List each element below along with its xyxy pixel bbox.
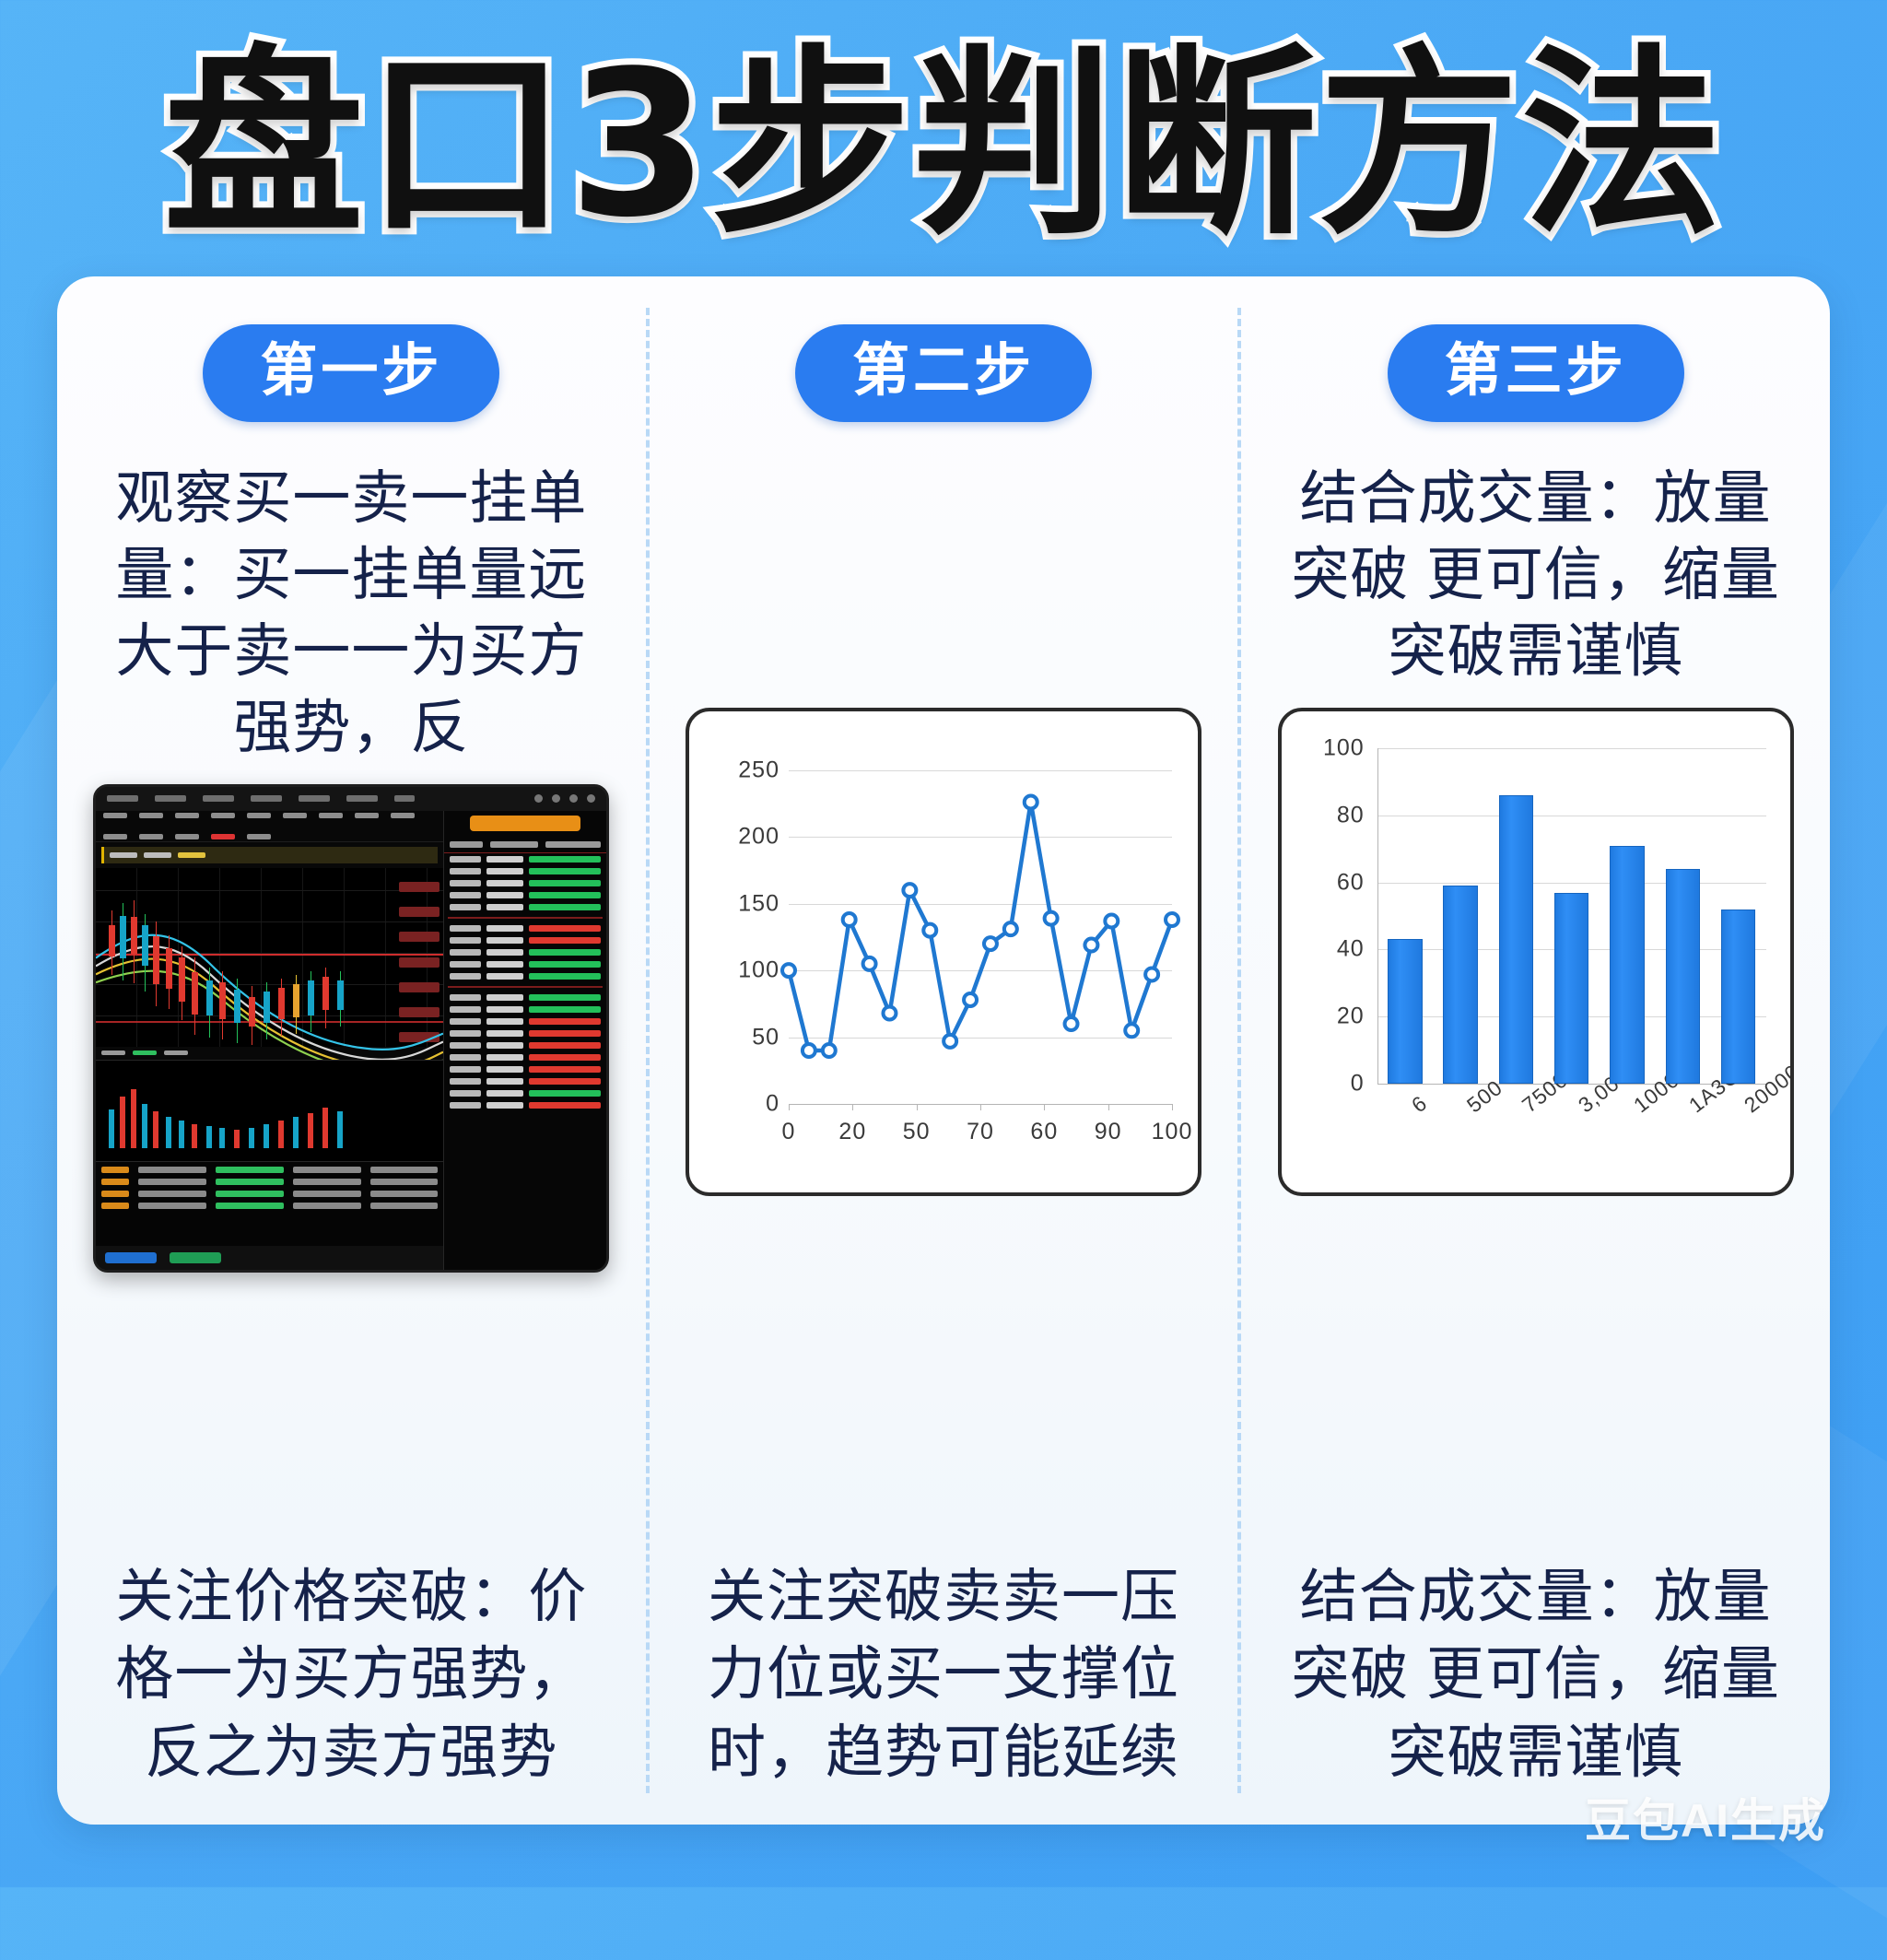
- sell-button[interactable]: [170, 1252, 221, 1263]
- list-item: [444, 934, 606, 946]
- data-point: [984, 937, 997, 950]
- data-point: [923, 924, 936, 937]
- data-point: [943, 1035, 956, 1048]
- order-book-pane: [444, 811, 606, 1270]
- steps-card: 第一步 观察买一卖一挂单量：买一挂单量远大于卖一一为买方强势，反: [57, 276, 1830, 1825]
- list-item: [444, 877, 606, 889]
- data-point: [782, 964, 795, 977]
- y-axis-tick-label: 100: [1293, 735, 1365, 762]
- data-point: [1025, 796, 1037, 809]
- table-row: [101, 1191, 438, 1197]
- table-row: [101, 1179, 438, 1185]
- line-series: [689, 711, 1198, 1192]
- watermark: 豆包AI生成: [1585, 1784, 1826, 1850]
- bar-chart: 020406080100650075003,006100061A3CO20000: [1278, 708, 1794, 1196]
- figure-container-3: 020406080100650075003,006100061A3CO20000: [1263, 708, 1808, 1196]
- list-item: [444, 958, 606, 970]
- symbol-pill[interactable]: [470, 816, 580, 831]
- data-point: [1045, 912, 1058, 925]
- y-axis-tick-label: 60: [1293, 869, 1365, 896]
- menu-item-icon: [346, 795, 378, 802]
- menu-item-icon: [203, 795, 234, 802]
- list-item: [444, 1087, 606, 1099]
- step-column-3: 第三步 结合成交量：放量突破 更可信，缩量突破需谨慎 0204060801006…: [1241, 276, 1830, 1825]
- list-item: [444, 1039, 606, 1051]
- menu-item-icon: [394, 795, 415, 802]
- data-point: [1105, 914, 1118, 927]
- bar: [1388, 939, 1422, 1084]
- list-item: [444, 1051, 606, 1063]
- list-item: [444, 1075, 606, 1087]
- y-axis-tick-label: 80: [1293, 802, 1365, 828]
- table-row: [101, 1203, 438, 1209]
- buy-button[interactable]: [105, 1252, 157, 1263]
- x-axis-tick-label: 6: [1407, 1091, 1432, 1119]
- list-item: [444, 970, 606, 982]
- list-item: [444, 901, 606, 913]
- chart-title-label: [101, 847, 438, 863]
- table-row: [101, 1167, 438, 1173]
- figure-container-2: 05010015020025002050706090100: [672, 708, 1216, 1196]
- step-caption-3: 结合成交量：放量突破 更可信，缩量突破需谨慎: [1278, 1531, 1794, 1791]
- bar: [1666, 869, 1700, 1084]
- terminal-chart-pane: [96, 811, 444, 1270]
- data-point: [1166, 913, 1178, 926]
- bar: [1499, 795, 1533, 1084]
- step-column-2: 第二步 05010015020025002050706090100 关注突破卖卖…: [650, 276, 1238, 1825]
- list-item: [444, 865, 606, 877]
- gridline: [1377, 883, 1766, 884]
- page-title: 盘口3步判断方法: [163, 41, 1724, 252]
- line-chart-canvas: 05010015020025002050706090100: [689, 711, 1198, 1192]
- data-point: [1145, 968, 1158, 980]
- list-item: [444, 1027, 606, 1039]
- data-point: [1125, 1024, 1138, 1037]
- gridline: [1377, 748, 1766, 749]
- menu-item-icon: [251, 795, 282, 802]
- data-point: [883, 1006, 896, 1019]
- figure-container-1: [79, 784, 624, 1273]
- bar-chart-canvas: 020406080100650075003,006100061A3CO20000: [1282, 711, 1790, 1192]
- line-chart: 05010015020025002050706090100: [686, 708, 1201, 1196]
- menu-item-icon: [299, 795, 330, 802]
- orders-table: [96, 1161, 443, 1246]
- order-book-topbar: [444, 811, 606, 837]
- candlestick-chart: [96, 868, 443, 1047]
- chart-toolbar: [96, 811, 443, 842]
- close-icon: [587, 794, 595, 803]
- terminal-footer: [96, 1246, 443, 1270]
- volume-pane: [96, 1060, 443, 1161]
- step-badge-2: 第二步: [795, 324, 1092, 422]
- step-caption-2: 关注突破卖卖一压力位或买一支撑位时，趋势可能延续: [686, 1531, 1201, 1791]
- data-point: [1004, 922, 1017, 935]
- step-lead-text-3: 结合成交量：放量突破 更可信，缩量突破需谨慎: [1278, 461, 1794, 691]
- bar: [1443, 886, 1477, 1084]
- step-column-1: 第一步 观察买一卖一挂单量：买一挂单量远大于卖一一为买方强势，反: [57, 276, 646, 1825]
- refresh-icon: [552, 794, 560, 803]
- data-point: [964, 993, 977, 1006]
- y-axis-tick-label: 40: [1293, 936, 1365, 963]
- bar: [1721, 910, 1755, 1084]
- data-point: [1065, 1017, 1078, 1030]
- data-point: [903, 884, 916, 897]
- list-item: [444, 889, 606, 901]
- data-point: [823, 1044, 836, 1057]
- y-axis-tick-label: 20: [1293, 1003, 1365, 1030]
- bar: [1610, 846, 1644, 1084]
- step-lead-text-1: 观察买一卖一挂单量：买一挂单量远大于卖一一为买方强势，反: [93, 461, 609, 768]
- step-badge-1: 第一步: [203, 324, 499, 422]
- terminal-body: [96, 811, 606, 1270]
- list-item: [444, 992, 606, 1003]
- y-axis-tick-label: 0: [1293, 1071, 1365, 1097]
- list-item: [444, 1099, 606, 1111]
- maximize-icon: [569, 794, 578, 803]
- y-axis-line: [1377, 748, 1378, 1084]
- bar: [1554, 893, 1588, 1084]
- menu-item-icon: [155, 795, 186, 802]
- order-book-header: [444, 837, 606, 853]
- terminal-menubar: [96, 787, 606, 811]
- list-item: [444, 1003, 606, 1015]
- step-caption-1: 关注价格突破：价格一为买方强势，反之为卖方强势: [93, 1531, 609, 1791]
- data-point: [843, 913, 856, 926]
- step-badge-3: 第三步: [1388, 324, 1684, 422]
- step-lead-text-2: [686, 461, 1201, 691]
- list-item: [444, 946, 606, 958]
- trading-terminal-screenshot: [93, 784, 609, 1273]
- list-item: [444, 853, 606, 865]
- gridline: [1377, 816, 1766, 816]
- data-point: [863, 957, 876, 970]
- window-controls: [534, 794, 595, 803]
- minimize-icon: [534, 794, 543, 803]
- list-item: [444, 1015, 606, 1027]
- data-point: [1084, 939, 1097, 952]
- menu-item-icon: [107, 795, 138, 802]
- list-item: [444, 922, 606, 934]
- data-point: [803, 1044, 815, 1057]
- page-title-container: 盘口3步判断方法: [0, 41, 1887, 252]
- list-item: [444, 1063, 606, 1075]
